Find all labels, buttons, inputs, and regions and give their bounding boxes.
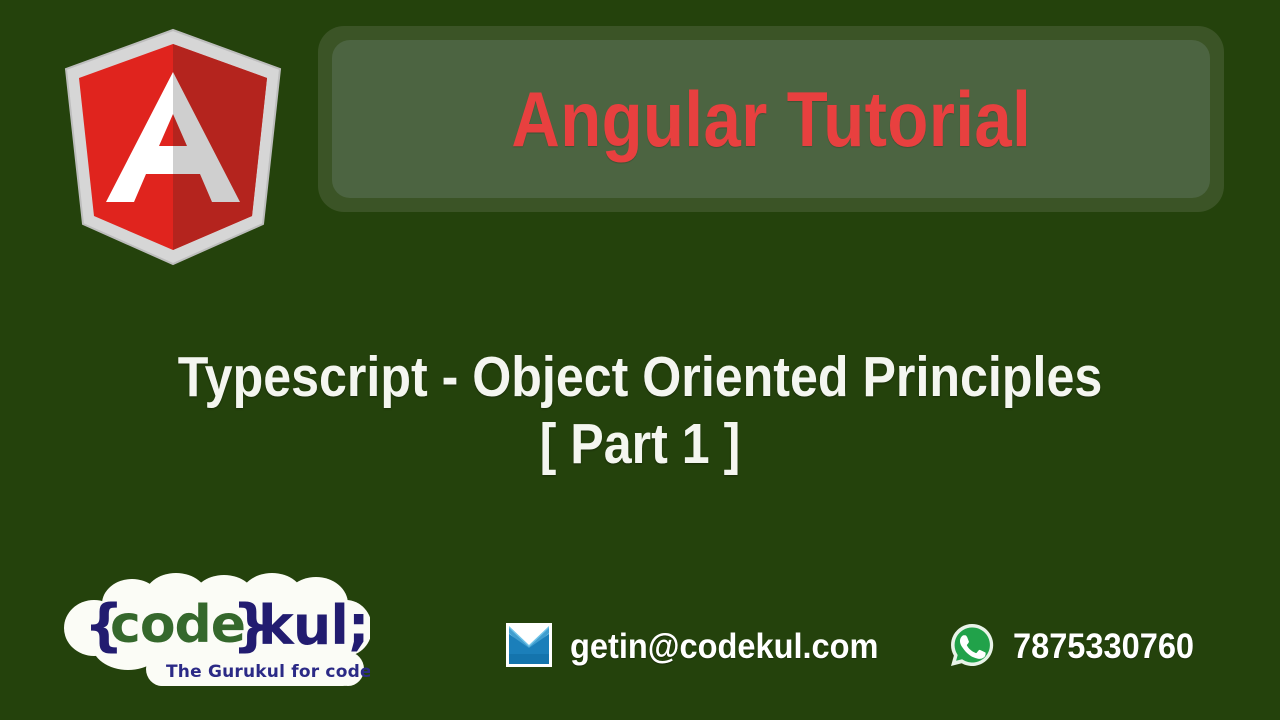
banner-title: Angular Tutorial	[511, 80, 1031, 158]
email-envelope-icon	[505, 621, 553, 674]
title-banner-inner: Angular Tutorial	[332, 40, 1210, 198]
angular-shield-logo	[62, 28, 284, 266]
codekul-tagline: The Gurukul for coders	[166, 662, 370, 682]
codekul-logo: { code } kul; The Gurukul for coders	[58, 572, 370, 694]
codekul-word-code: code	[110, 595, 245, 655]
contact-row: getin@codekul.com 7875330760	[505, 614, 1207, 680]
codekul-word-kul: kul;	[258, 594, 368, 657]
title-banner: Angular Tutorial	[318, 26, 1224, 212]
tutorial-title-slide: Angular Tutorial Typescript - Object Ori…	[0, 0, 1280, 720]
page-title-line-2: [ Part 1 ]	[77, 411, 1203, 478]
page-title-line-1: Typescript - Object Oriented Principles	[77, 344, 1203, 411]
phone-number-text: 7875330760	[1013, 627, 1194, 667]
whatsapp-icon	[948, 621, 996, 674]
contact-email[interactable]: getin@codekul.com	[505, 621, 902, 674]
contact-phone[interactable]: 7875330760	[948, 621, 1208, 674]
page-title: Typescript - Object Oriented Principles …	[0, 344, 1280, 479]
email-address-text: getin@codekul.com	[570, 627, 878, 667]
